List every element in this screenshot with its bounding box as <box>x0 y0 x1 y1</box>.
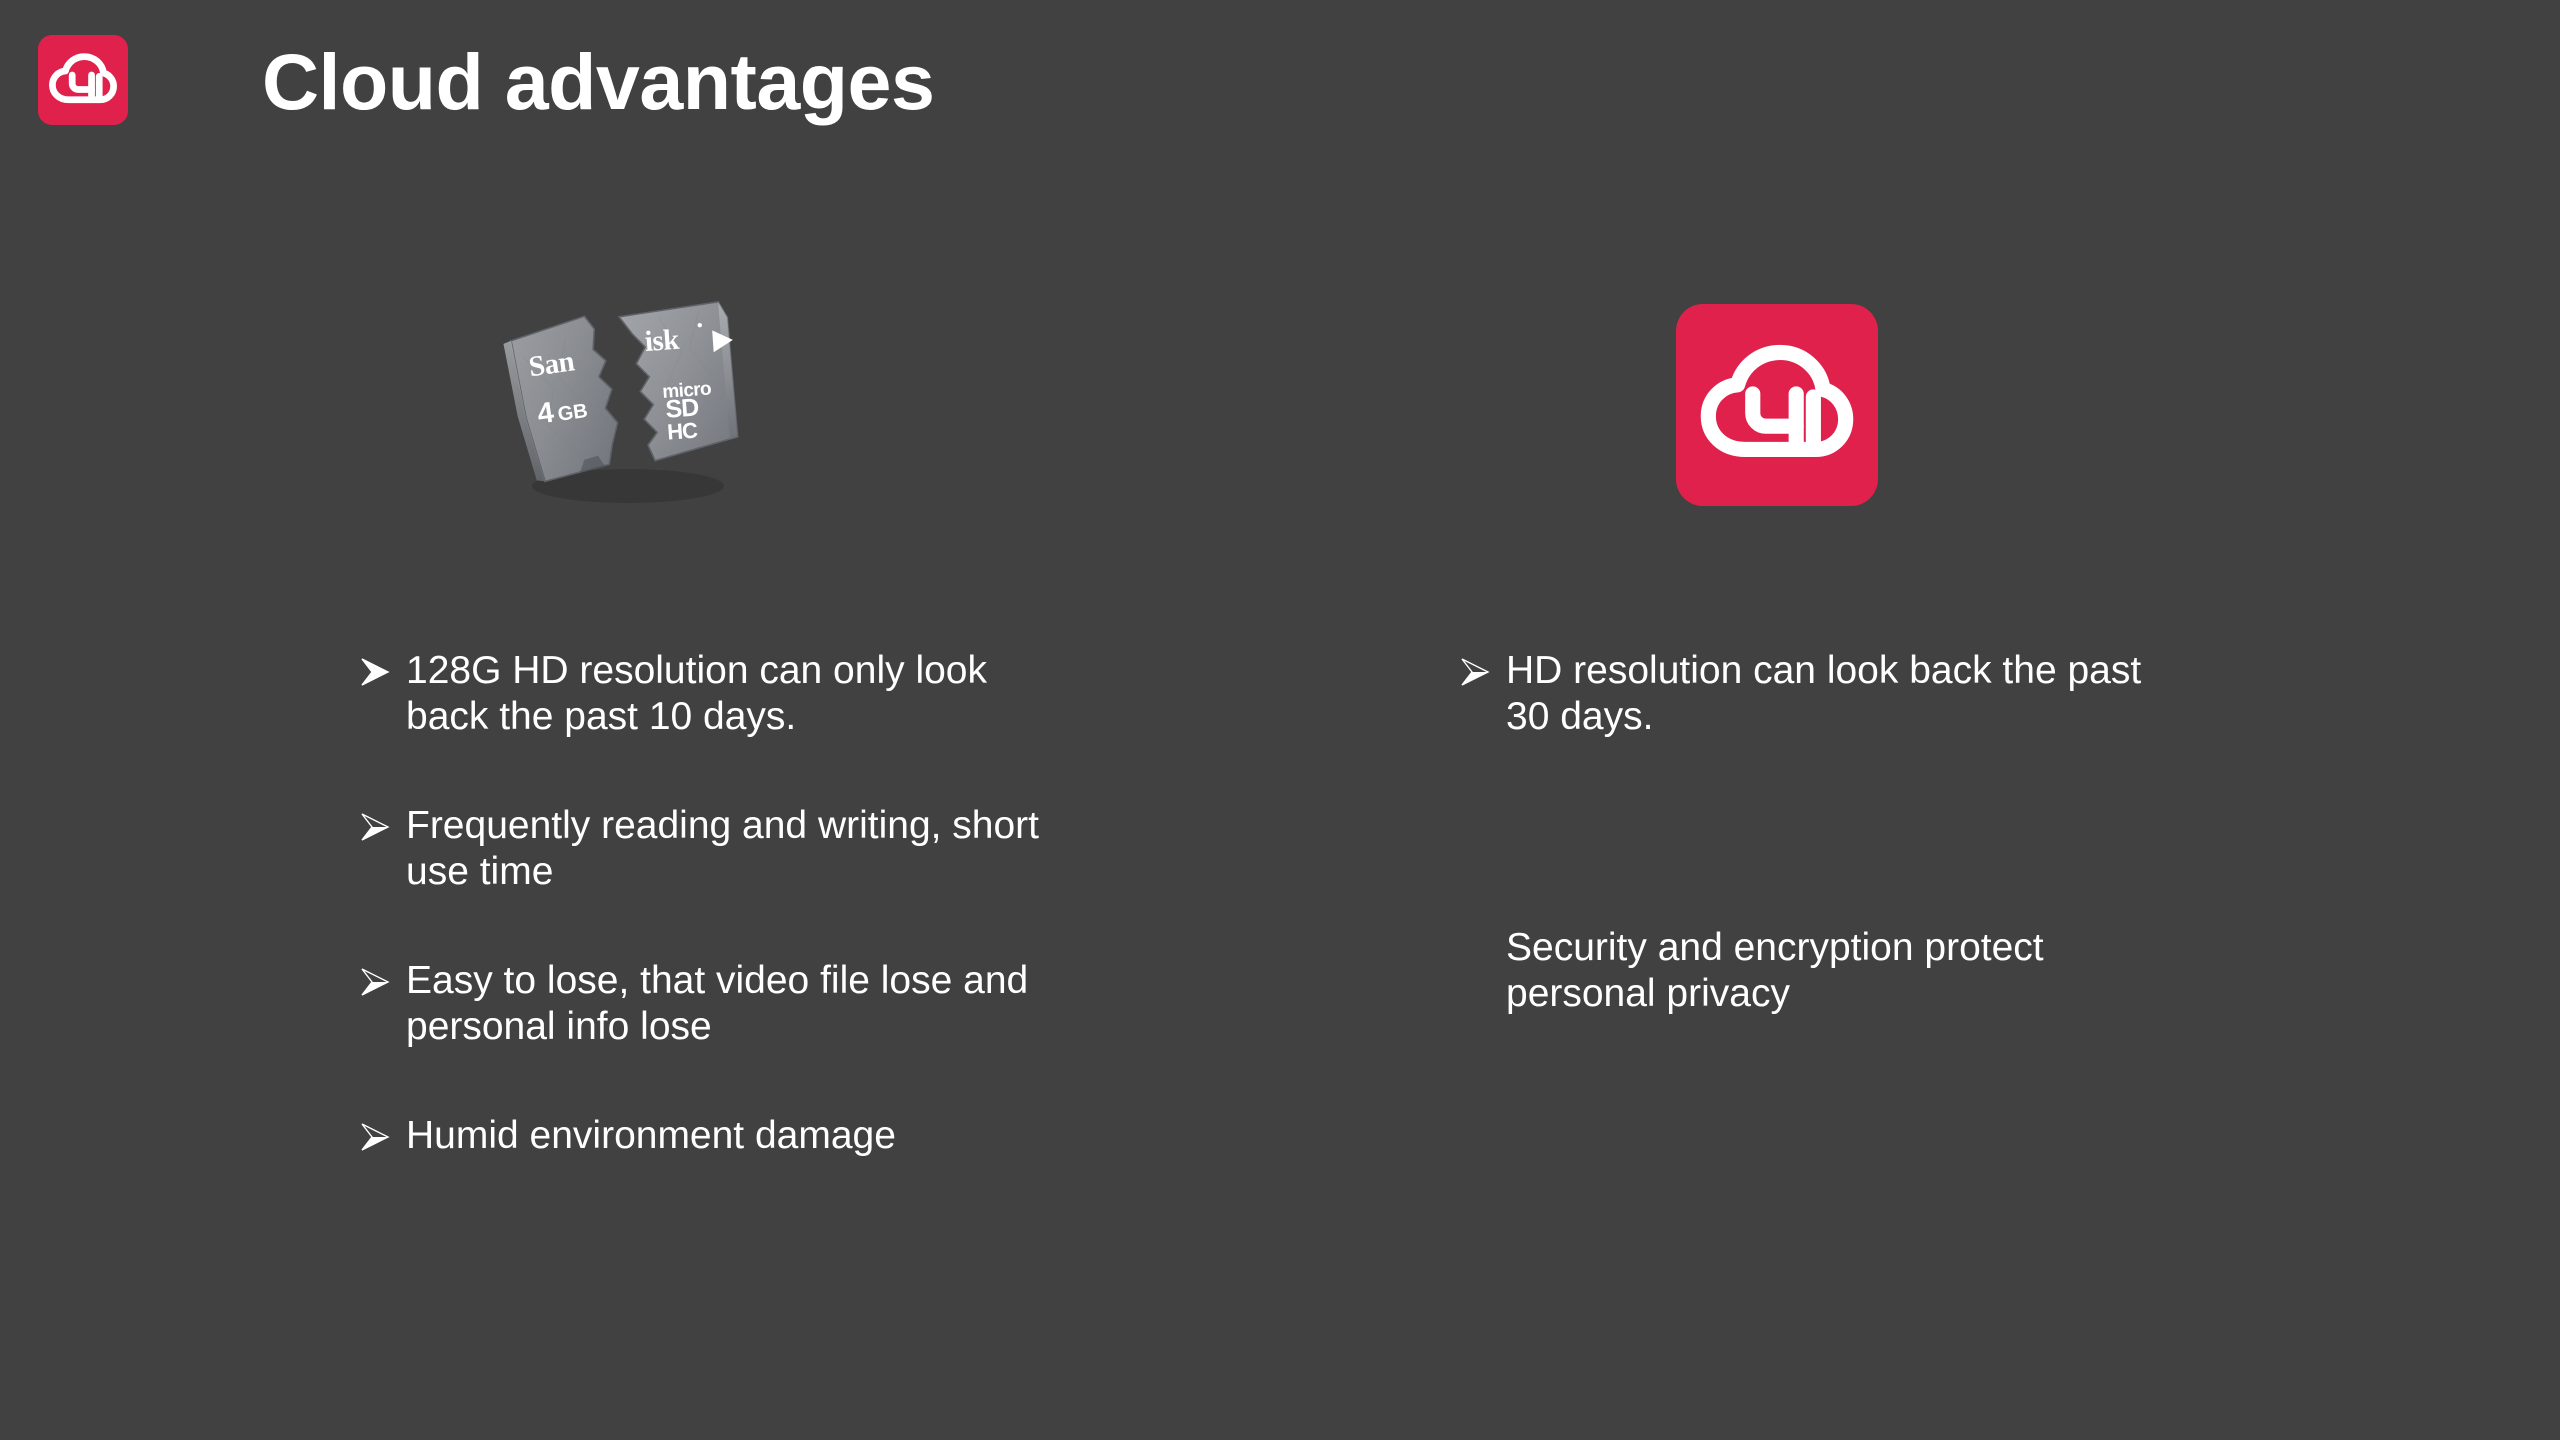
svg-text:San: San <box>527 345 577 383</box>
broken-sd-card-image: San 4 GB isk micro SD HC <box>478 290 778 515</box>
list-item-label: HD resolution can look back the past 30 … <box>1506 648 2158 740</box>
list-item: Frequently reading and writing, short us… <box>358 803 1078 895</box>
list-item: Humid environment damage <box>358 1113 1078 1159</box>
list-item-label: Humid environment damage <box>406 1113 1078 1159</box>
arrowhead-bullet-icon <box>358 1113 406 1152</box>
spacer <box>1458 740 2158 866</box>
list-item-label: Frequently reading and writing, short us… <box>406 803 1078 895</box>
spacer <box>1458 866 2158 925</box>
svg-text:GB: GB <box>556 400 589 426</box>
spacer <box>358 895 1078 958</box>
right-bullet-column: HD resolution can look back the past 30 … <box>1458 648 2158 1017</box>
list-item: Easy to lose, that video file lose and p… <box>358 958 1078 1050</box>
arrowhead-bullet-icon <box>1458 648 1506 687</box>
svg-text:HC: HC <box>666 418 699 445</box>
left-bullet-column: 128G HD resolution can only look back th… <box>358 648 1078 1159</box>
spacer <box>358 1050 1078 1113</box>
svg-text:isk: isk <box>644 324 681 358</box>
list-item: 128G HD resolution can only look back th… <box>358 648 1078 740</box>
page-title: Cloud advantages <box>262 38 934 126</box>
arrowhead-bullet-icon <box>358 803 406 842</box>
security-note: Security and encryption protect personal… <box>1458 925 2158 1017</box>
list-item-label: 128G HD resolution can only look back th… <box>406 648 1078 740</box>
yi-cloud-logo-icon <box>38 35 128 125</box>
yi-cloud-logo-large <box>1676 304 1878 506</box>
arrowhead-bullet-icon <box>358 648 406 687</box>
list-item: HD resolution can look back the past 30 … <box>1458 648 2158 740</box>
slide-canvas: Cloud advantages <box>0 0 2560 1440</box>
list-item-label: Easy to lose, that video file lose and p… <box>406 958 1078 1050</box>
spacer <box>358 740 1078 803</box>
yi-cloud-logo-icon <box>1676 304 1878 506</box>
arrowhead-bullet-icon <box>358 958 406 997</box>
header-logo <box>38 35 128 125</box>
